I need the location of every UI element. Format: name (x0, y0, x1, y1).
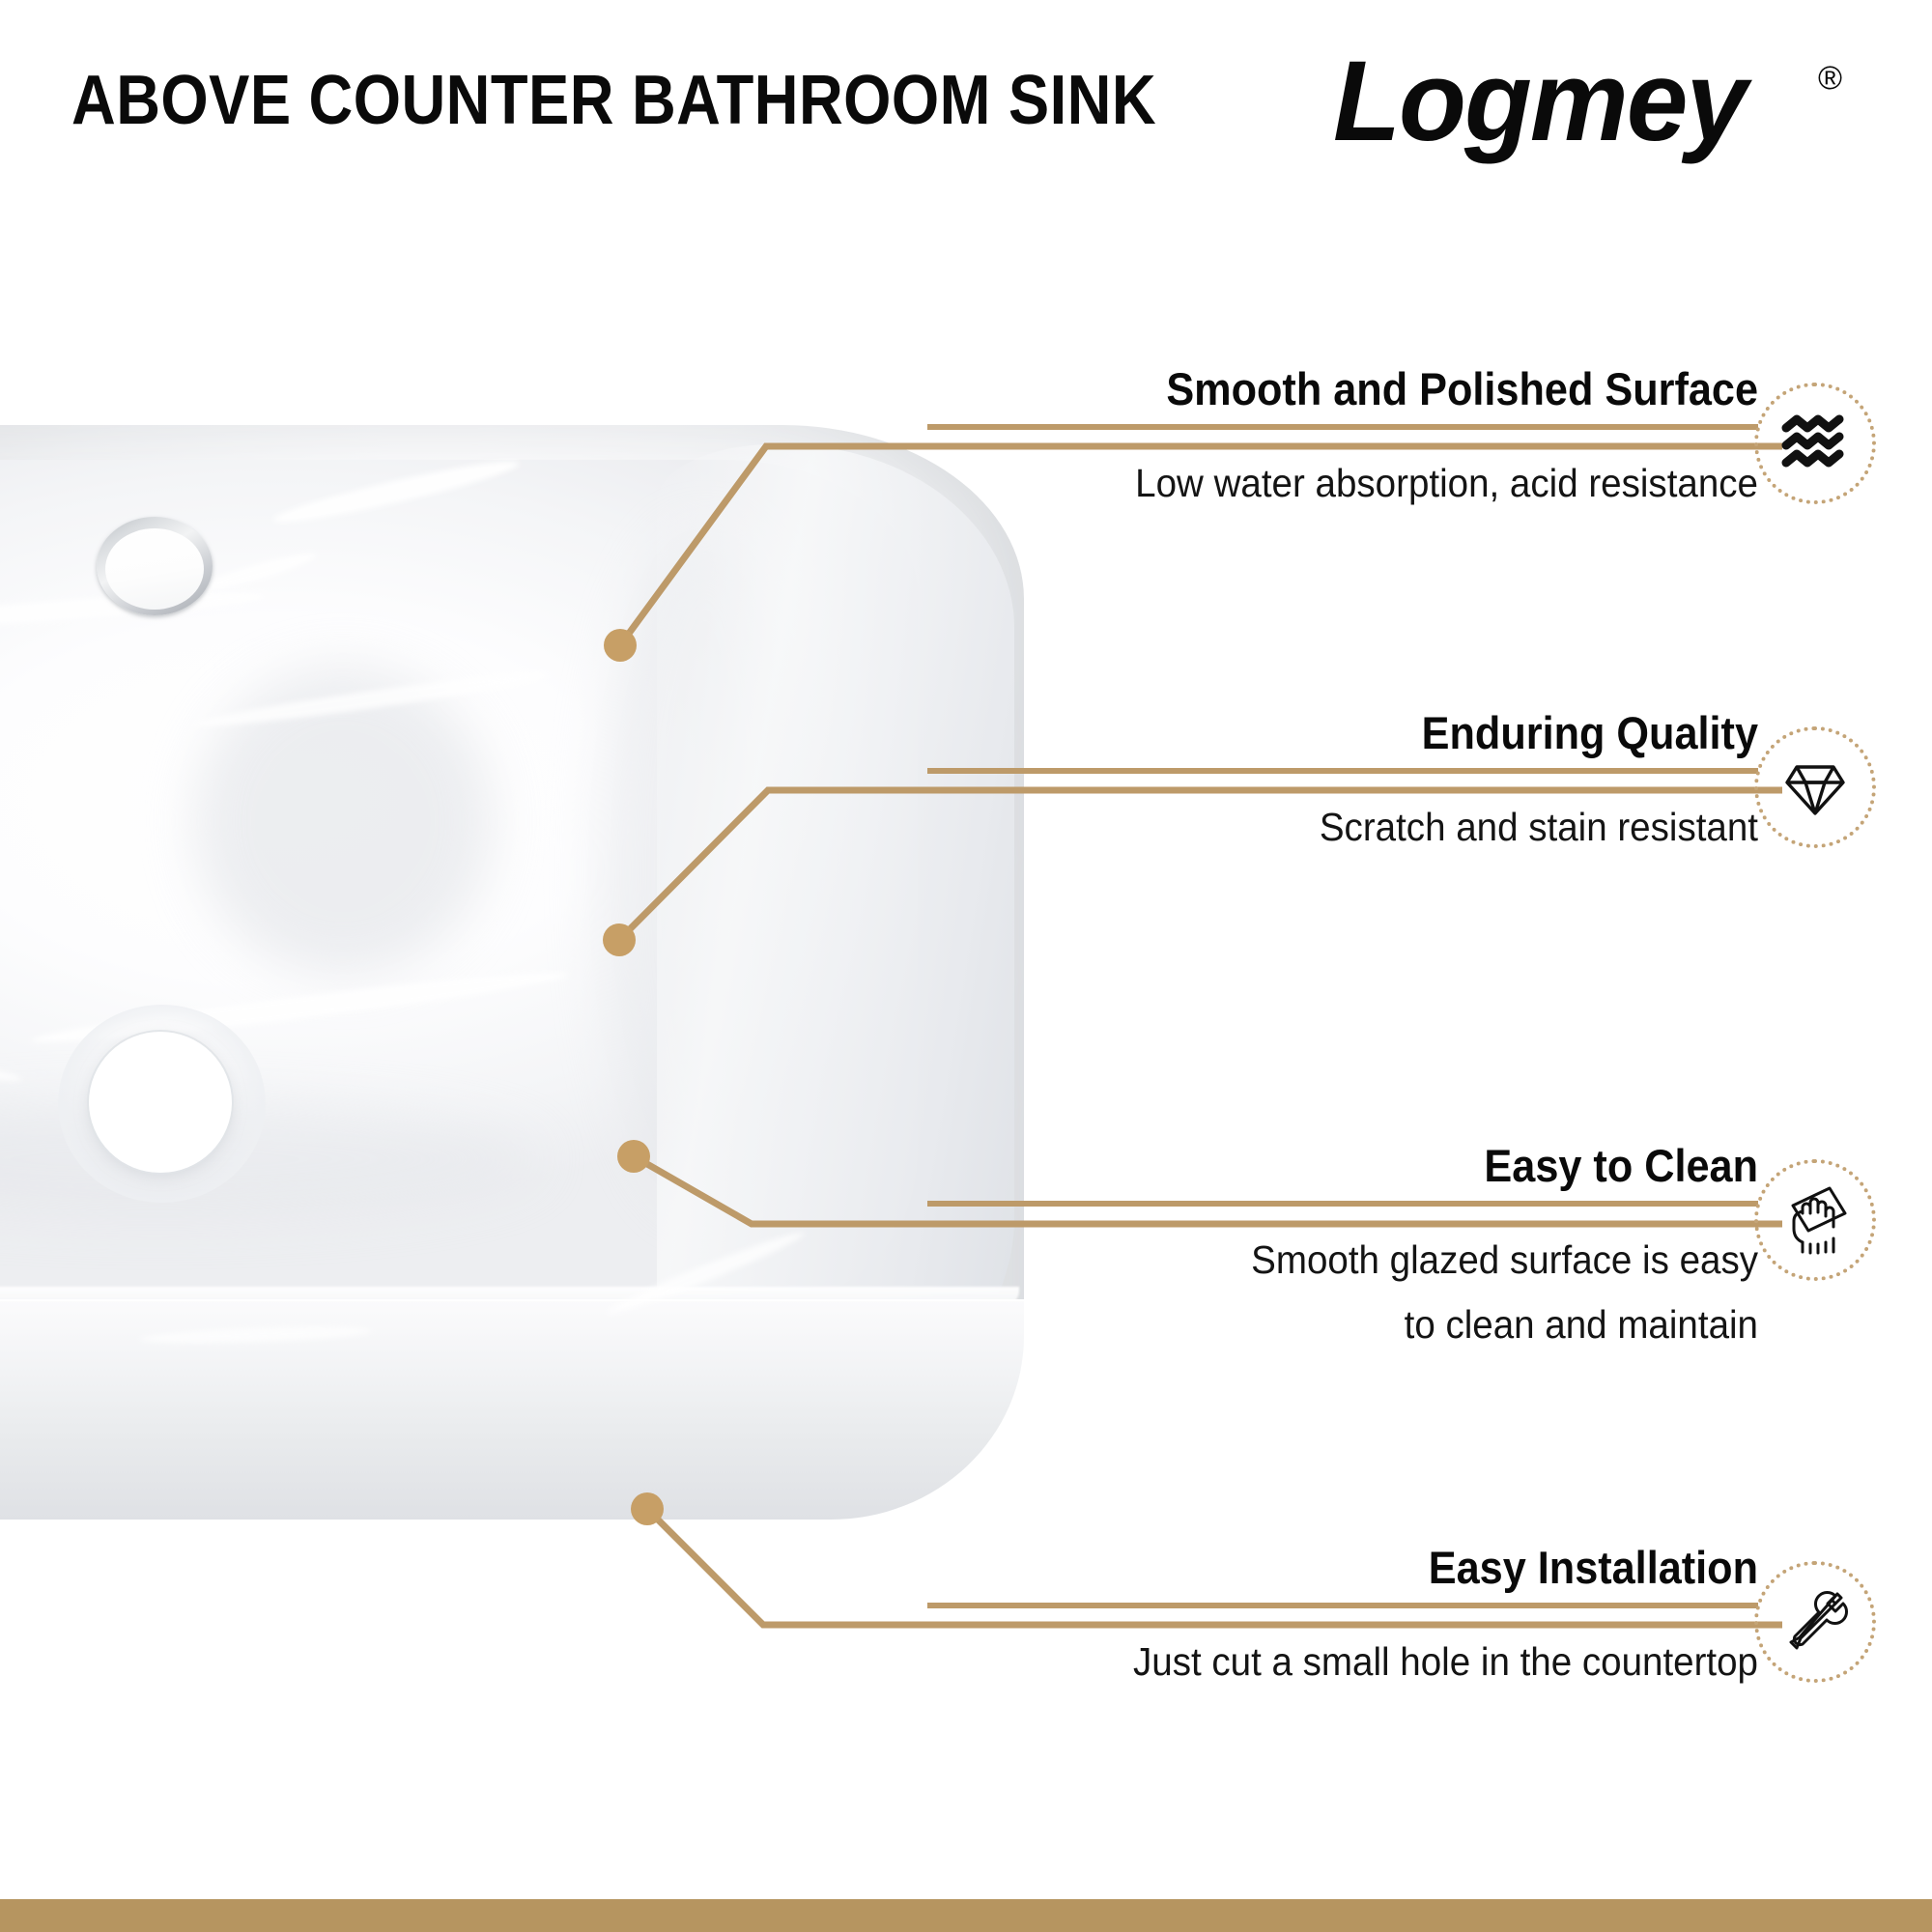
product-image-sink (0, 425, 1034, 1526)
feature-heading: Smooth and Polished Surface (994, 365, 1758, 412)
feature-description: Low water absorption, acid resistance (978, 451, 1758, 515)
feature-heading: Enduring Quality (994, 709, 1758, 756)
feature-block-smooth-and-polished-surface: Smooth and Polished Surface Low water ab… (927, 365, 1758, 516)
hand-wiping-cloth-icon-badge (1754, 1159, 1876, 1281)
brand-logo: Logmey ® (1333, 44, 1874, 160)
feature-description: Smooth glazed surface is easy to clean a… (978, 1228, 1758, 1356)
drain-hole (89, 1032, 232, 1173)
feature-heading: Easy Installation (994, 1544, 1758, 1591)
feature-description-line: Low water absorption, acid resistance (978, 451, 1758, 515)
feature-description-line: Smooth glazed surface is easy (978, 1228, 1758, 1292)
feature-description-line: to clean and maintain (978, 1293, 1758, 1356)
sink-front-rim (0, 1299, 1024, 1520)
feature-divider (927, 1603, 1758, 1608)
feature-block-enduring-quality: Enduring Quality Scratch and stain resis… (927, 709, 1758, 860)
feature-divider (927, 424, 1758, 430)
bottom-accent-bar (0, 1899, 1932, 1932)
faucet-hole-opening (105, 528, 204, 610)
faucet-hole (97, 517, 213, 615)
screwdriver-wrench-icon-badge (1754, 1561, 1876, 1683)
feature-description-line: Just cut a small hole in the countertop (978, 1630, 1758, 1693)
diamond-icon (1783, 755, 1847, 819)
feature-block-easy-to-clean: Easy to Clean Smooth glazed surface is e… (927, 1142, 1758, 1356)
feature-heading: Easy to Clean (994, 1142, 1758, 1189)
brand-name: Logmey (1333, 44, 1746, 158)
feature-divider (927, 768, 1758, 774)
page-title: ABOVE COUNTER BATHROOM SINK (71, 66, 1156, 135)
feature-block-easy-installation: Easy Installation Just cut a small hole … (927, 1544, 1758, 1694)
water-waves-icon-badge (1754, 383, 1876, 504)
feature-divider (927, 1201, 1758, 1207)
hand-wiping-cloth-icon (1781, 1184, 1849, 1256)
registered-trademark-icon: ® (1818, 62, 1842, 95)
feature-description: Just cut a small hole in the countertop (978, 1630, 1758, 1693)
feature-description-line: Scratch and stain resistant (978, 795, 1758, 859)
screwdriver-wrench-icon (1781, 1588, 1849, 1656)
feature-description: Scratch and stain resistant (978, 795, 1758, 859)
diamond-icon-badge (1754, 726, 1876, 848)
water-waves-icon (1780, 414, 1850, 472)
infographic-page: ABOVE COUNTER BATHROOM SINK Logmey ® (0, 0, 1932, 1932)
